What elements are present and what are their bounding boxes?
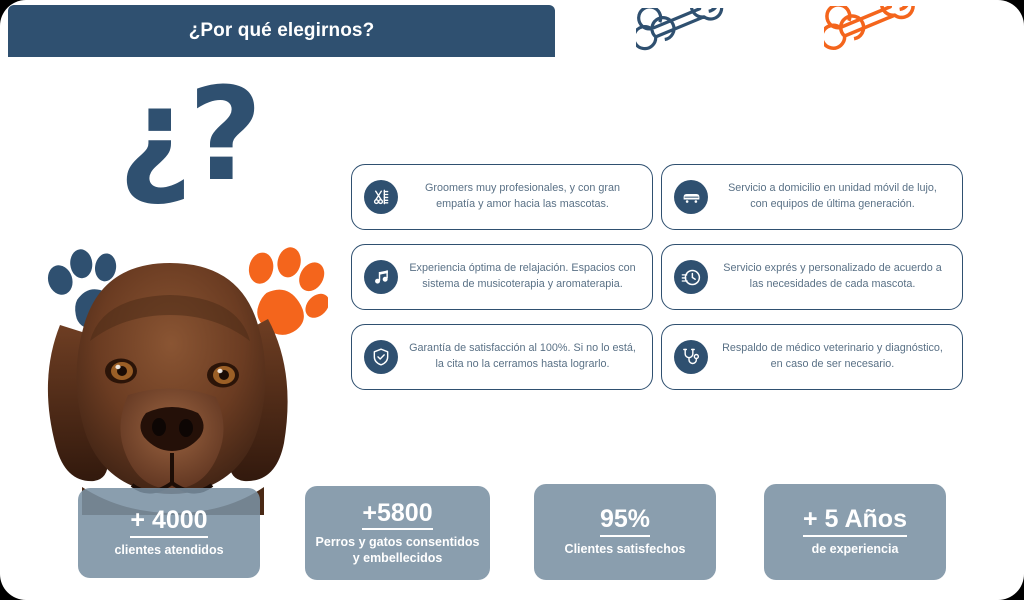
stat-number: + 5 Años (803, 506, 907, 537)
page-title: ¿Por qué elegirnos? (189, 20, 375, 42)
feature-card-relaxation[interactable]: Experiencia óptima de relajación. Espaci… (351, 244, 653, 310)
page-root: ¿Por qué elegirnos? ¿? (0, 0, 1024, 600)
feature-card-express[interactable]: Servicio exprés y personalizado de acuer… (661, 244, 963, 310)
van-icon (674, 180, 708, 214)
stat-number: +5800 (362, 500, 432, 531)
stat-box-experience: + 5 Años de experiencia (764, 484, 946, 580)
bone-orange-icon (824, 6, 924, 65)
stat-box-satisfaction: 95% Clientes satisfechos (534, 484, 716, 580)
dog-photo (38, 255, 308, 515)
stat-label: Clientes satisfechos (565, 542, 686, 558)
stat-number: 95% (600, 506, 650, 537)
feature-card-guarantee[interactable]: Garantía de satisfacción al 100%. Si no … (351, 324, 653, 390)
shield-check-icon (364, 340, 398, 374)
bone-blue-icon (636, 8, 732, 65)
feature-card-veterinary[interactable]: Respaldo de médico veterinario y diagnós… (661, 324, 963, 390)
header-banner: ¿Por qué elegirnos? (8, 5, 555, 57)
feature-card-text: Experiencia óptima de relajación. Espaci… (409, 261, 640, 292)
music-note-icon (364, 260, 398, 294)
stat-box-pets: +5800 Perros y gatos consentidos y embel… (305, 486, 490, 580)
stat-label: Perros y gatos consentidos y embellecido… (315, 535, 480, 566)
feature-card-groomers[interactable]: Groomers muy profesionales, y con gran e… (351, 164, 653, 230)
question-mark-decor: ¿? (118, 72, 283, 197)
feature-card-text: Respaldo de médico veterinario y diagnós… (719, 341, 950, 372)
feature-card-text: Servicio a domicilio en unidad móvil de … (719, 181, 950, 212)
scissors-comb-icon (364, 180, 398, 214)
feature-card-text: Servicio exprés y personalizado de acuer… (719, 261, 950, 292)
feature-card-text: Groomers muy profesionales, y con gran e… (409, 181, 640, 212)
stethoscope-icon (674, 340, 708, 374)
stat-label: de experiencia (812, 542, 899, 558)
feature-card-mobile-service[interactable]: Servicio a domicilio en unidad móvil de … (661, 164, 963, 230)
stat-box-clients: + 4000 clientes atendidos (78, 488, 260, 578)
stat-label: clientes atendidos (114, 543, 223, 559)
fast-clock-icon (674, 260, 708, 294)
feature-card-text: Garantía de satisfacción al 100%. Si no … (409, 341, 640, 372)
stat-number: + 4000 (130, 507, 207, 538)
